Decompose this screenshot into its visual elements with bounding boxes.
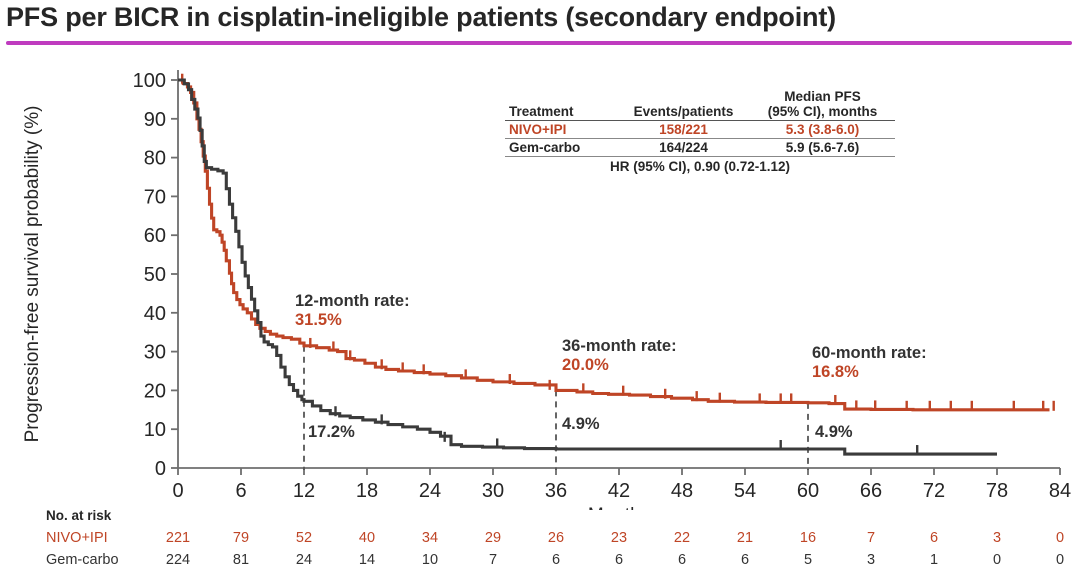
risk-value-gem-carbo-24mo: 10 xyxy=(410,552,450,568)
number-at-risk-table: No. at risk NIVO+IPI Gem-carbo 221224798… xyxy=(0,508,1080,582)
summary-cell-treatment: NIVO+IPI xyxy=(505,121,617,139)
y-tick-label: 60 xyxy=(144,225,166,247)
y-tick-label: 70 xyxy=(144,186,166,208)
x-tick-label: 60 xyxy=(797,480,819,502)
y-tick-label: 100 xyxy=(133,70,166,92)
annotation-60-month-gem-value-wrap: 4.9% xyxy=(815,423,853,442)
summary-header-median-pfs-line1: Median PFS xyxy=(754,89,891,104)
summary-cell-events: 158/221 xyxy=(617,121,750,139)
annotation-60-month-nivo-value: 16.8% xyxy=(812,363,927,382)
x-tick-label: 42 xyxy=(608,480,630,502)
risk-value-gem-carbo-72mo: 1 xyxy=(914,552,954,568)
y-axis-title: Progression-free survival probability (%… xyxy=(22,106,43,443)
risk-value-nivo-ipi-54mo: 21 xyxy=(725,530,765,546)
summary-header-median-pfs-line2: (95% CI), months xyxy=(754,104,891,119)
risk-value-gem-carbo-18mo: 14 xyxy=(347,552,387,568)
risk-value-nivo-ipi-72mo: 6 xyxy=(914,530,954,546)
summary-header-treatment: Treatment xyxy=(505,88,617,121)
summary-row-gem-carbo: Gem-carbo 164/224 5.9 (5.6-7.6) xyxy=(505,139,895,157)
x-tick-label: 78 xyxy=(986,480,1008,502)
risk-value-gem-carbo-42mo: 6 xyxy=(599,552,639,568)
annotation-12-month-gem-value-wrap: 17.2% xyxy=(308,423,355,442)
risk-row-label-gem-carbo: Gem-carbo xyxy=(46,552,119,568)
risk-value-nivo-ipi-36mo: 26 xyxy=(536,530,576,546)
risk-value-nivo-ipi-66mo: 7 xyxy=(851,530,891,546)
x-tick-label: 84 xyxy=(1049,480,1071,502)
risk-value-gem-carbo-60mo: 5 xyxy=(788,552,828,568)
risk-value-nivo-ipi-60mo: 16 xyxy=(788,530,828,546)
y-tick-label: 50 xyxy=(144,264,166,286)
annotation-36-month-nivo-value: 20.0% xyxy=(562,356,677,375)
risk-value-nivo-ipi-24mo: 34 xyxy=(410,530,450,546)
title-underline-rule xyxy=(6,41,1072,45)
annotation-36-month: 36-month rate: 20.0% xyxy=(562,337,677,375)
annotation-12-month-nivo-value: 31.5% xyxy=(295,311,410,330)
risk-value-nivo-ipi-78mo: 3 xyxy=(977,530,1017,546)
y-tick-label: 40 xyxy=(144,303,166,325)
risk-value-nivo-ipi-48mo: 22 xyxy=(662,530,702,546)
y-tick-label: 30 xyxy=(144,342,166,364)
risk-value-nivo-ipi-18mo: 40 xyxy=(347,530,387,546)
risk-value-gem-carbo-0mo: 224 xyxy=(158,552,198,568)
risk-value-gem-carbo-54mo: 6 xyxy=(725,552,765,568)
slide-root: PFS per BICR in cisplatin-ineligible pat… xyxy=(0,0,1080,582)
risk-value-gem-carbo-84mo: 0 xyxy=(1040,552,1080,568)
risk-row-label-nivo-ipi: NIVO+IPI xyxy=(46,530,108,546)
summary-cell-treatment: Gem-carbo xyxy=(505,139,617,157)
y-tick-label: 80 xyxy=(144,148,166,170)
annotation-12-month-gem-value: 17.2% xyxy=(308,423,355,442)
risk-value-gem-carbo-48mo: 6 xyxy=(662,552,702,568)
summary-cell-median-pfs: 5.9 (5.6-7.6) xyxy=(750,139,895,157)
x-tick-label: 0 xyxy=(172,480,183,502)
annotation-36-month-gem-value-wrap: 4.9% xyxy=(562,415,600,434)
risk-value-gem-carbo-78mo: 0 xyxy=(977,552,1017,568)
risk-table-title: No. at risk xyxy=(46,508,111,523)
risk-value-gem-carbo-6mo: 81 xyxy=(221,552,261,568)
x-tick-label: 66 xyxy=(860,480,882,502)
risk-value-gem-carbo-30mo: 7 xyxy=(473,552,513,568)
risk-value-gem-carbo-66mo: 3 xyxy=(851,552,891,568)
summary-cell-median-pfs: 5.3 (3.8-6.0) xyxy=(750,121,895,139)
x-tick-label: 48 xyxy=(671,480,693,502)
summary-cell-events: 164/224 xyxy=(617,139,750,157)
risk-value-gem-carbo-12mo: 24 xyxy=(284,552,324,568)
y-tick-label: 90 xyxy=(144,109,166,131)
risk-value-nivo-ipi-6mo: 79 xyxy=(221,530,261,546)
annotation-60-month: 60-month rate: 16.8% xyxy=(812,344,927,382)
summary-table: Treatment Events/patients Median PFS (95… xyxy=(505,88,895,175)
x-tick-label: 54 xyxy=(734,480,756,502)
annotation-12-month: 12-month rate: 31.5% xyxy=(295,292,410,330)
annotation-60-month-gem-value: 4.9% xyxy=(815,423,853,442)
x-tick-label: 30 xyxy=(482,480,504,502)
summary-row-nivo-ipi: NIVO+IPI 158/221 5.3 (3.8-6.0) xyxy=(505,121,895,139)
x-tick-label: 6 xyxy=(235,480,246,502)
summary-header-median-pfs: Median PFS (95% CI), months xyxy=(750,88,895,121)
annotation-12-month-label: 12-month rate: xyxy=(295,292,410,311)
risk-value-nivo-ipi-0mo: 221 xyxy=(158,530,198,546)
summary-header-events: Events/patients xyxy=(617,88,750,121)
x-tick-label: 36 xyxy=(545,480,567,502)
annotation-60-month-label: 60-month rate: xyxy=(812,344,927,363)
y-tick-label: 10 xyxy=(144,419,166,441)
hazard-ratio-text: HR (95% CI), 0.90 (0.72-1.12) xyxy=(505,157,895,176)
annotation-36-month-label: 36-month rate: xyxy=(562,337,677,356)
x-tick-label: 18 xyxy=(356,480,378,502)
x-tick-label: 72 xyxy=(923,480,945,502)
summary-row-hazard-ratio: HR (95% CI), 0.90 (0.72-1.12) xyxy=(505,157,895,176)
y-tick-label: 0 xyxy=(155,458,166,480)
annotation-36-month-gem-value: 4.9% xyxy=(562,415,600,434)
x-tick-label: 24 xyxy=(419,480,441,502)
y-tick-label: 20 xyxy=(144,380,166,402)
page-title: PFS per BICR in cisplatin-ineligible pat… xyxy=(6,2,1074,33)
risk-value-nivo-ipi-30mo: 29 xyxy=(473,530,513,546)
risk-value-gem-carbo-36mo: 6 xyxy=(536,552,576,568)
x-tick-label: 12 xyxy=(293,480,315,502)
risk-value-nivo-ipi-84mo: 0 xyxy=(1040,530,1080,546)
risk-value-nivo-ipi-42mo: 23 xyxy=(599,530,639,546)
risk-value-nivo-ipi-12mo: 52 xyxy=(284,530,324,546)
